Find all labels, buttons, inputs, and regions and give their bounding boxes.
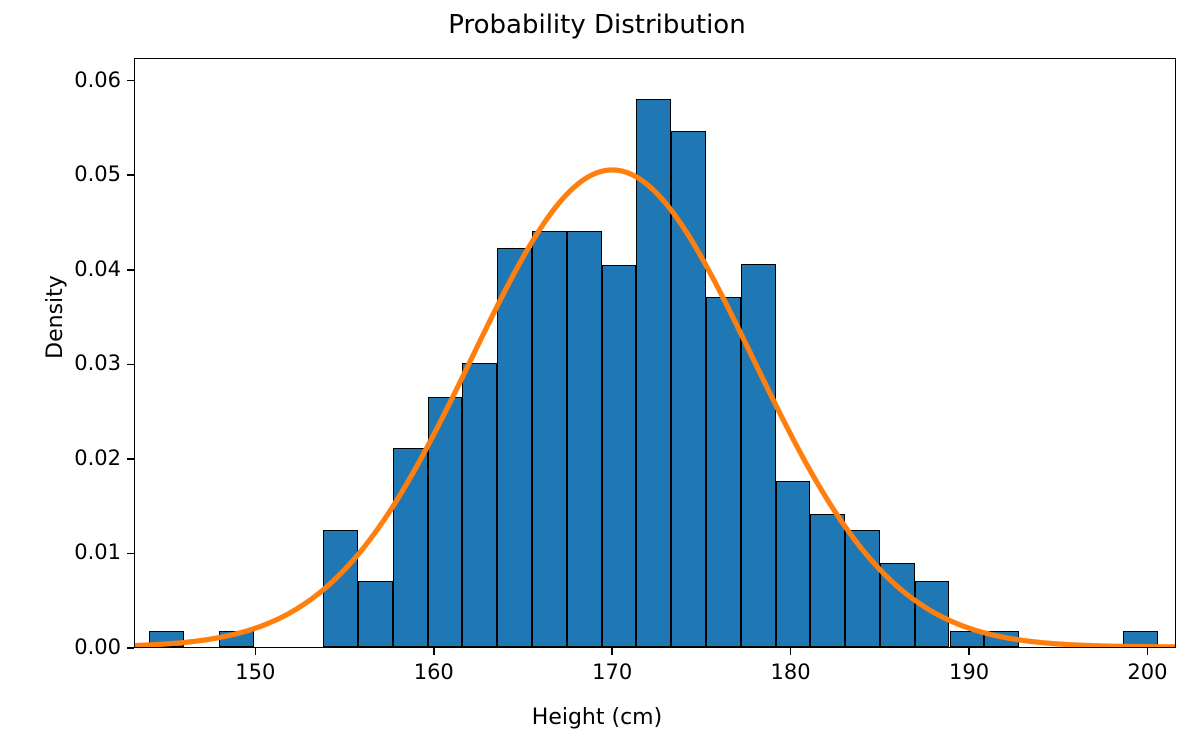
- plot-area: [134, 58, 1176, 648]
- y-axis-tick: [127, 458, 134, 460]
- histogram-bar: [671, 131, 706, 647]
- histogram-bar: [880, 563, 915, 647]
- histogram-bar: [636, 99, 671, 647]
- plot-inner: [135, 59, 1175, 647]
- histogram-bar: [602, 265, 637, 647]
- histogram-bar: [984, 631, 1019, 647]
- y-axis-tick-label: 0.03: [74, 353, 121, 374]
- histogram-bar: [532, 231, 567, 647]
- histogram-bar: [462, 363, 497, 647]
- x-axis-tick-label: 170: [562, 660, 662, 684]
- y-axis-tick-label: 0.06: [74, 70, 121, 91]
- histogram-bar: [358, 581, 393, 647]
- x-axis-tick-label: 160: [384, 660, 484, 684]
- histogram-bar: [845, 530, 880, 647]
- x-axis-tick-label: 200: [1097, 660, 1194, 684]
- histogram-bar: [567, 231, 602, 647]
- histogram-bar: [219, 631, 254, 647]
- histogram-bar: [393, 448, 428, 648]
- x-axis-tick: [968, 648, 970, 655]
- histogram-bar: [706, 297, 741, 647]
- x-axis-tick-label: 190: [919, 660, 1019, 684]
- histogram-bar: [915, 581, 950, 647]
- x-axis-tick: [790, 648, 792, 655]
- y-axis-tick-label: 0.02: [74, 448, 121, 469]
- x-axis-tick: [1147, 648, 1149, 655]
- histogram-bar: [149, 631, 184, 647]
- y-axis-tick-label: 0.05: [74, 164, 121, 185]
- histogram-bar: [810, 514, 845, 647]
- histogram-bar: [776, 481, 811, 647]
- histogram-bar: [497, 248, 532, 647]
- y-axis-tick: [127, 80, 134, 82]
- y-axis-label: Density: [43, 217, 69, 417]
- histogram-bar: [1123, 631, 1158, 647]
- y-axis-tick-label: 0.01: [74, 542, 121, 563]
- y-axis-tick: [127, 553, 134, 555]
- y-axis-tick-label: 0.04: [74, 259, 121, 280]
- y-axis-tick: [127, 364, 134, 366]
- x-axis-tick: [255, 648, 257, 655]
- y-axis-tick: [127, 269, 134, 271]
- x-axis-tick-label: 150: [205, 660, 305, 684]
- y-axis-tick-label: 0.00: [74, 637, 121, 658]
- chart-title: Probability Distribution: [0, 8, 1194, 42]
- x-axis-label: Height (cm): [0, 705, 1194, 731]
- x-axis-tick: [433, 648, 435, 655]
- histogram-bar: [323, 530, 358, 647]
- y-axis-tick: [127, 647, 134, 649]
- histogram-bar: [950, 631, 985, 647]
- y-axis-tick: [127, 174, 134, 176]
- histogram-bar: [428, 397, 463, 647]
- histogram-bar: [741, 264, 776, 647]
- x-axis-tick-label: 180: [741, 660, 841, 684]
- chart-figure: Probability Distribution 0.000.010.020.0…: [0, 0, 1194, 751]
- x-axis-tick: [611, 648, 613, 655]
